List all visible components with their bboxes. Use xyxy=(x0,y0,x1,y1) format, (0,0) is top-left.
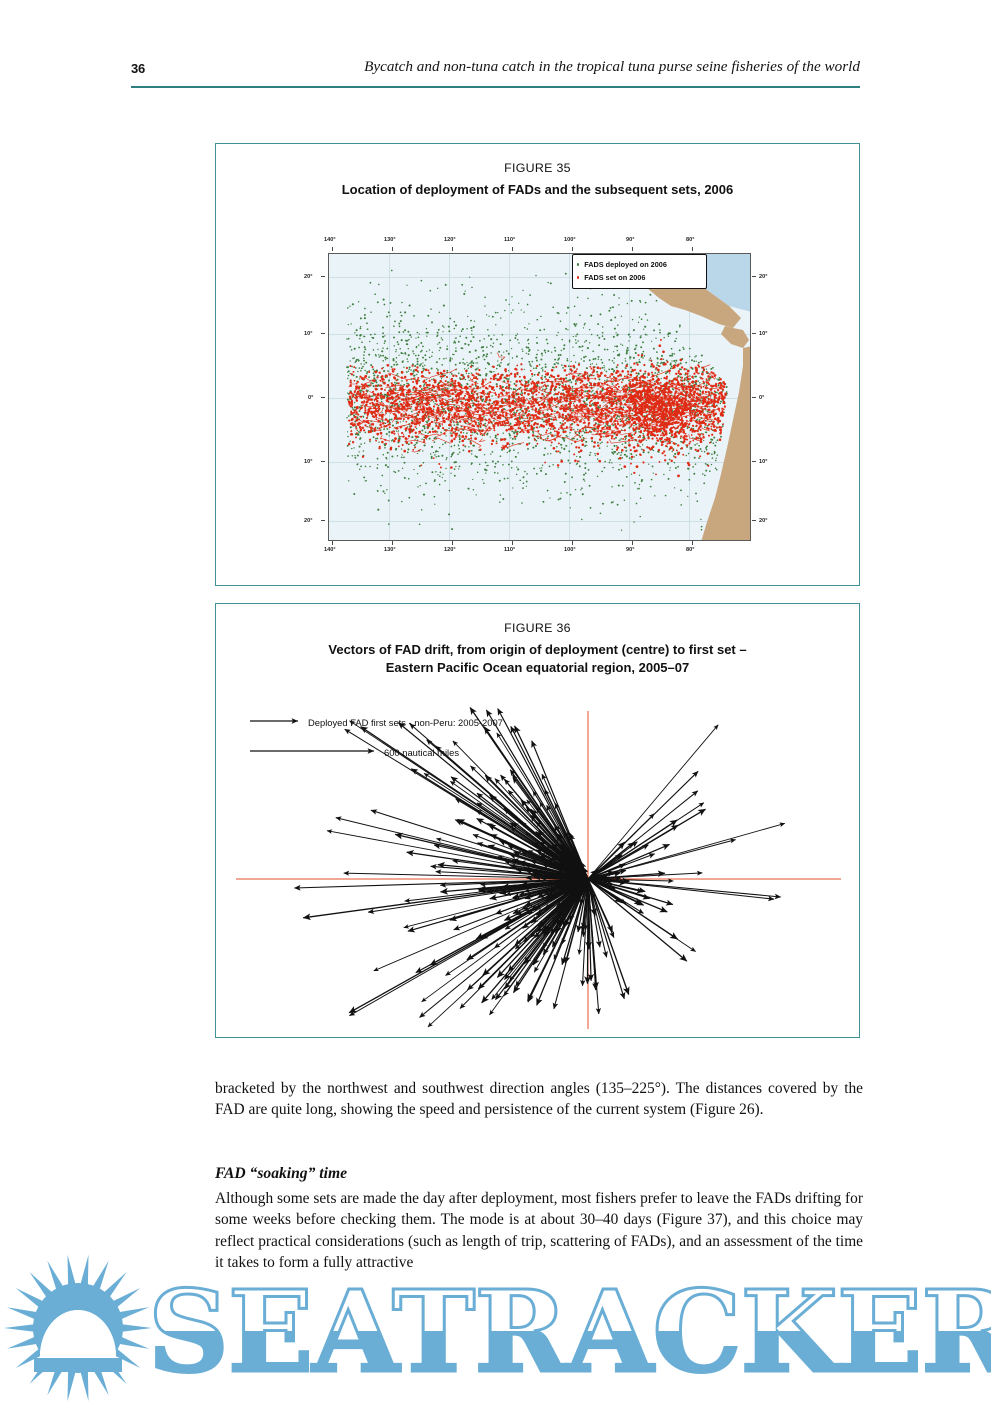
figure-36-caption: FIGURE 36 Vectors of FAD drift, from ori… xyxy=(216,621,859,677)
tick-right-20n xyxy=(752,276,756,277)
tick-top-80 xyxy=(692,247,693,251)
page-header: 36 Bycatch and non-tuna catch in the tro… xyxy=(131,58,860,88)
tick-left-20n xyxy=(321,276,325,277)
running-title: Bycatch and non-tuna catch in the tropic… xyxy=(364,58,860,76)
x-tick-bottom-140: 140° xyxy=(324,547,336,553)
figure-35-map: 140° 130° 120° 110° 100° 90° 80° 140° 13… xyxy=(272,233,807,558)
legend-item-deployed: FADS deployed on 2006 xyxy=(577,258,701,271)
tick-right-0 xyxy=(752,397,756,398)
x-tick-top-80: 80° xyxy=(686,237,694,243)
tick-right-20s xyxy=(752,520,756,521)
y-tick-right-20n: 20° xyxy=(759,274,767,280)
figure-35-container: FIGURE 35 Location of deployment of FADs… xyxy=(215,143,860,586)
figure-35-legend: FADS deployed on 2006 FADS set on 2006 xyxy=(572,254,707,289)
figure-36-legend-label: Deployed FAD first sets - non-Peru: 2005… xyxy=(308,717,503,728)
figure-36-title: Vectors of FAD drift, from origin of dep… xyxy=(216,641,859,677)
figure-36-container: FIGURE 36 Vectors of FAD drift, from ori… xyxy=(215,603,860,1038)
x-tick-bottom-90: 90° xyxy=(626,547,634,553)
watermark: SEATRACKER.RU SEATRACKER.RU xyxy=(0,1253,991,1403)
figure-36-scale-label: 600 nautical miles xyxy=(384,747,459,758)
tick-left-10s xyxy=(321,461,325,462)
y-tick-left-10s: 10° xyxy=(304,459,312,465)
vector-rose-svg xyxy=(236,699,841,1029)
figure-36-title-line1: Vectors of FAD drift, from origin of dep… xyxy=(328,642,746,657)
tick-bottom-130 xyxy=(392,541,393,545)
y-tick-right-10s: 10° xyxy=(759,459,767,465)
tick-right-10n xyxy=(752,333,756,334)
paragraph-soaking-time: Although some sets are made the day afte… xyxy=(215,1188,863,1274)
x-tick-bottom-120: 120° xyxy=(444,547,456,553)
y-tick-left-10n: 10° xyxy=(304,331,312,337)
paragraph-bracketed-directions: bracketed by the northwest and southwest… xyxy=(215,1078,863,1121)
tick-bottom-80 xyxy=(692,541,693,545)
tick-top-90 xyxy=(632,247,633,251)
y-tick-right-20s: 20° xyxy=(759,518,767,524)
x-tick-top-100: 100° xyxy=(564,237,576,243)
figure-36-vector-plot: Deployed FAD first sets - non-Peru: 2005… xyxy=(236,699,841,1029)
map-plot-area xyxy=(328,253,751,541)
y-tick-right-0: 0° xyxy=(759,395,764,401)
x-tick-bottom-100: 100° xyxy=(564,547,576,553)
legend-dot-set-icon xyxy=(577,276,579,278)
tick-top-110 xyxy=(512,247,513,251)
x-tick-bottom-110: 110° xyxy=(504,547,515,553)
figure-35-number: FIGURE 35 xyxy=(216,161,859,175)
legend-dot-deployed-icon xyxy=(577,263,579,265)
scatter-points xyxy=(329,254,751,541)
y-tick-left-0: 0° xyxy=(308,395,313,401)
tick-left-10n xyxy=(321,333,325,334)
x-tick-top-120: 120° xyxy=(444,237,456,243)
tick-left-0 xyxy=(321,397,325,398)
figure-35-title: Location of deployment of FADs and the s… xyxy=(216,181,859,199)
x-tick-top-110: 110° xyxy=(504,237,515,243)
section-heading-fad-soaking-time: FAD “soaking” time xyxy=(215,1165,347,1183)
x-tick-top-90: 90° xyxy=(626,237,634,243)
y-tick-left-20n: 20° xyxy=(304,274,312,280)
tick-top-130 xyxy=(392,247,393,251)
tick-top-120 xyxy=(452,247,453,251)
sun-logo-icon xyxy=(4,1255,152,1401)
watermark-text-fill: SEATRACKER.RU xyxy=(148,1267,991,1398)
y-tick-left-20s: 20° xyxy=(304,518,312,524)
tick-bottom-100 xyxy=(572,541,573,545)
legend-label-set: FADS set on 2006 xyxy=(584,273,645,282)
y-tick-right-10n: 10° xyxy=(759,331,767,337)
x-tick-bottom-130: 130° xyxy=(384,547,396,553)
x-tick-top-140: 140° xyxy=(324,237,336,243)
figure-36-number: FIGURE 36 xyxy=(216,621,859,635)
figure-35-caption: FIGURE 35 Location of deployment of FADs… xyxy=(216,161,859,199)
watermark-svg: SEATRACKER.RU SEATRACKER.RU xyxy=(0,1253,991,1403)
tick-left-20s xyxy=(321,520,325,521)
page-number: 36 xyxy=(131,61,145,76)
tick-right-10s xyxy=(752,461,756,462)
tick-top-140 xyxy=(332,247,333,251)
legend-label-deployed: FADS deployed on 2006 xyxy=(584,260,667,269)
tick-bottom-120 xyxy=(452,541,453,545)
legend-item-set: FADS set on 2006 xyxy=(577,271,701,284)
tick-top-100 xyxy=(572,247,573,251)
x-tick-bottom-80: 80° xyxy=(686,547,694,553)
tick-bottom-110 xyxy=(512,541,513,545)
tick-bottom-90 xyxy=(632,541,633,545)
figure-36-title-line2: Eastern Pacific Ocean equatorial region,… xyxy=(386,660,689,675)
tick-bottom-140 xyxy=(332,541,333,545)
x-tick-top-130: 130° xyxy=(384,237,396,243)
watermark-text: SEATRACKER.RU xyxy=(148,1267,991,1398)
header-rule xyxy=(131,86,860,88)
